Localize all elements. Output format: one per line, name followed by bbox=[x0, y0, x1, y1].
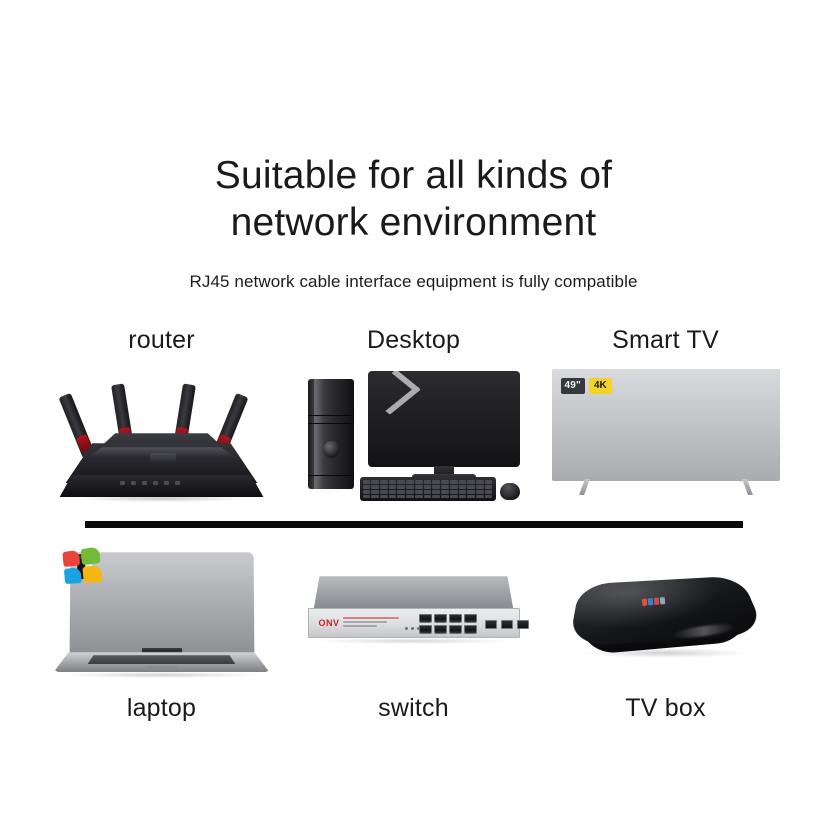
device-row-bottom: laptop ONV bbox=[44, 550, 784, 723]
device-card-tv-box: TV box bbox=[548, 550, 784, 723]
device-image-desktop bbox=[296, 363, 532, 503]
keyboard-row bbox=[363, 480, 493, 484]
rj45-port bbox=[449, 625, 462, 634]
tv-stand-foot bbox=[579, 479, 590, 495]
keyboard-row bbox=[363, 490, 493, 494]
switch-shadow bbox=[318, 638, 510, 644]
router-logo-icon bbox=[150, 453, 176, 462]
laptop-lid bbox=[69, 552, 254, 654]
device-image-switch: ONV bbox=[296, 550, 532, 684]
router-shadow bbox=[76, 495, 248, 502]
rj45-port bbox=[434, 614, 447, 623]
device-card-smart-tv: Smart TV bbox=[548, 326, 784, 503]
headline-line-2: network environment bbox=[0, 199, 827, 246]
header: Suitable for all kinds of network enviro… bbox=[0, 0, 827, 292]
device-label-desktop: Desktop bbox=[367, 326, 460, 355]
laptop-keyboard bbox=[88, 655, 236, 664]
uplink-port bbox=[485, 620, 497, 629]
uplink-port bbox=[501, 620, 513, 629]
device-card-desktop: Desktop bbox=[296, 326, 532, 503]
device-image-laptop bbox=[44, 550, 280, 684]
tower-seam bbox=[308, 475, 354, 476]
computer-tower-icon bbox=[308, 379, 354, 489]
device-label-smart-tv: Smart TV bbox=[612, 326, 719, 355]
desktop-computer-icon bbox=[302, 367, 528, 503]
tv-box-icon bbox=[576, 564, 758, 670]
rj45-port bbox=[464, 614, 477, 623]
device-row-top: router Desktop bbox=[44, 326, 784, 503]
tv-bezel: 49" 4K bbox=[552, 369, 780, 481]
tower-highlight bbox=[314, 379, 324, 489]
router-led-strip bbox=[120, 481, 180, 485]
tv-stand-foot bbox=[742, 479, 753, 495]
device-label-tv-box: TV box bbox=[625, 694, 705, 723]
network-switch-icon: ONV bbox=[304, 576, 524, 662]
rj45-port bbox=[419, 625, 432, 634]
tower-seam bbox=[308, 415, 354, 416]
router-front-panel bbox=[60, 475, 264, 497]
tower-seam bbox=[308, 423, 354, 424]
router-icon bbox=[58, 371, 266, 501]
switch-status-leds bbox=[405, 627, 420, 630]
switch-front-panel: ONV bbox=[308, 608, 520, 638]
keyboard-row bbox=[363, 485, 493, 489]
switch-brand-logo: ONV bbox=[319, 618, 340, 628]
smart-tv-icon: 49" 4K bbox=[552, 369, 780, 497]
page-subtitle: RJ45 network cable interface equipment i… bbox=[0, 272, 827, 292]
monitor-bezel bbox=[368, 371, 520, 467]
rj45-port bbox=[434, 625, 447, 634]
switch-top-cover bbox=[314, 576, 514, 610]
switch-rj45-port-group bbox=[419, 614, 477, 634]
headline-line-1: Suitable for all kinds of bbox=[215, 154, 612, 197]
tv-box-shadow bbox=[582, 648, 748, 658]
page-title: Suitable for all kinds of network enviro… bbox=[0, 152, 827, 246]
laptop-shadow bbox=[66, 672, 258, 678]
device-image-tv-box bbox=[548, 550, 784, 684]
uplink-port bbox=[517, 620, 529, 629]
laptop-icon bbox=[54, 552, 270, 682]
rj45-port bbox=[449, 614, 462, 623]
device-label-router: router bbox=[128, 326, 195, 355]
switch-model-text bbox=[343, 617, 399, 629]
device-label-switch: switch bbox=[378, 694, 449, 723]
rj45-port bbox=[419, 614, 432, 623]
mouse-icon bbox=[500, 483, 520, 500]
device-card-switch: ONV switch bbox=[296, 550, 532, 723]
switch-uplink-port-group bbox=[485, 620, 529, 629]
device-image-router bbox=[44, 363, 280, 503]
keyboard-row bbox=[363, 495, 493, 499]
device-image-smart-tv: 49" 4K bbox=[548, 363, 784, 503]
tower-power-button bbox=[323, 441, 340, 458]
router-antenna-icon bbox=[58, 393, 94, 457]
section-divider bbox=[85, 521, 743, 528]
tv-box-top-shell bbox=[568, 576, 766, 647]
laptop-touchpad bbox=[146, 666, 178, 670]
monitor-icon bbox=[368, 371, 520, 475]
rj45-port bbox=[464, 625, 477, 634]
device-label-laptop: laptop bbox=[127, 694, 196, 723]
laptop-screen-bezel bbox=[77, 554, 85, 579]
device-card-router: router bbox=[44, 326, 280, 503]
device-card-laptop: laptop bbox=[44, 550, 280, 723]
keyboard-icon bbox=[360, 477, 496, 501]
